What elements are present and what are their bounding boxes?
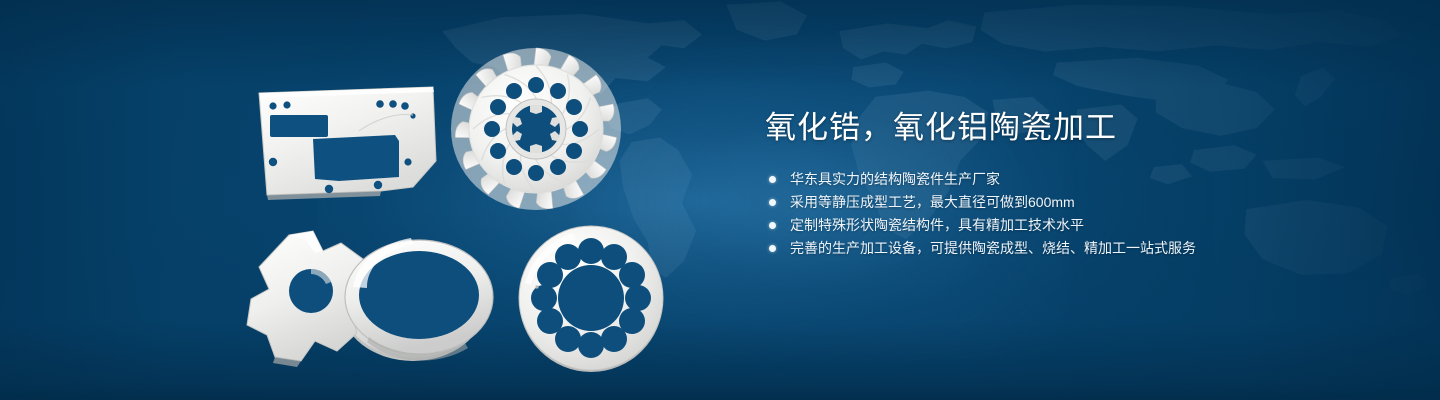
hero-banner: 氧化锆，氧化铝陶瓷加工 华东具实力的结构陶瓷件生产厂家 采用等静压成型工艺，最大… — [0, 0, 1440, 400]
list-item-label: 采用等静压成型工艺，最大直径可做到600mm — [790, 194, 1075, 210]
page-title: 氧化锆，氧化铝陶瓷加工 — [765, 108, 1385, 148]
list-item: 采用等静压成型工艺，最大直径可做到600mm — [769, 191, 1385, 214]
feature-list: 华东具实力的结构陶瓷件生产厂家 采用等静压成型工艺，最大直径可做到600mm 定… — [769, 168, 1385, 260]
bullet-dot-icon — [769, 222, 776, 229]
list-item-label: 华东具实力的结构陶瓷件生产厂家 — [790, 171, 1000, 187]
ceramic-machined-plate — [253, 83, 439, 201]
bullet-dot-icon — [769, 245, 776, 252]
bullet-dot-icon — [769, 176, 776, 183]
ceramic-impeller-disc — [450, 45, 622, 213]
list-item-label: 定制特殊形状陶瓷结构件，具有精加工技术水平 — [790, 217, 1084, 233]
bullet-dot-icon — [769, 199, 776, 206]
product-photo-group — [235, 45, 715, 385]
list-item-label: 完善的生产加工设备，可提供陶瓷成型、烧结、精加工一站式服务 — [790, 240, 1196, 256]
list-item: 华东具实力的结构陶瓷件生产厂家 — [769, 168, 1385, 191]
list-item: 完善的生产加工设备，可提供陶瓷成型、烧结、精加工一站式服务 — [769, 237, 1385, 260]
list-item: 定制特殊形状陶瓷结构件，具有精加工技术水平 — [769, 214, 1385, 237]
ceramic-star-plate-rings — [243, 223, 503, 373]
bottom-shade — [0, 382, 1440, 400]
ceramic-valve-plate — [517, 225, 665, 373]
banner-copy: 氧化锆，氧化铝陶瓷加工 华东具实力的结构陶瓷件生产厂家 采用等静压成型工艺，最大… — [765, 108, 1385, 260]
